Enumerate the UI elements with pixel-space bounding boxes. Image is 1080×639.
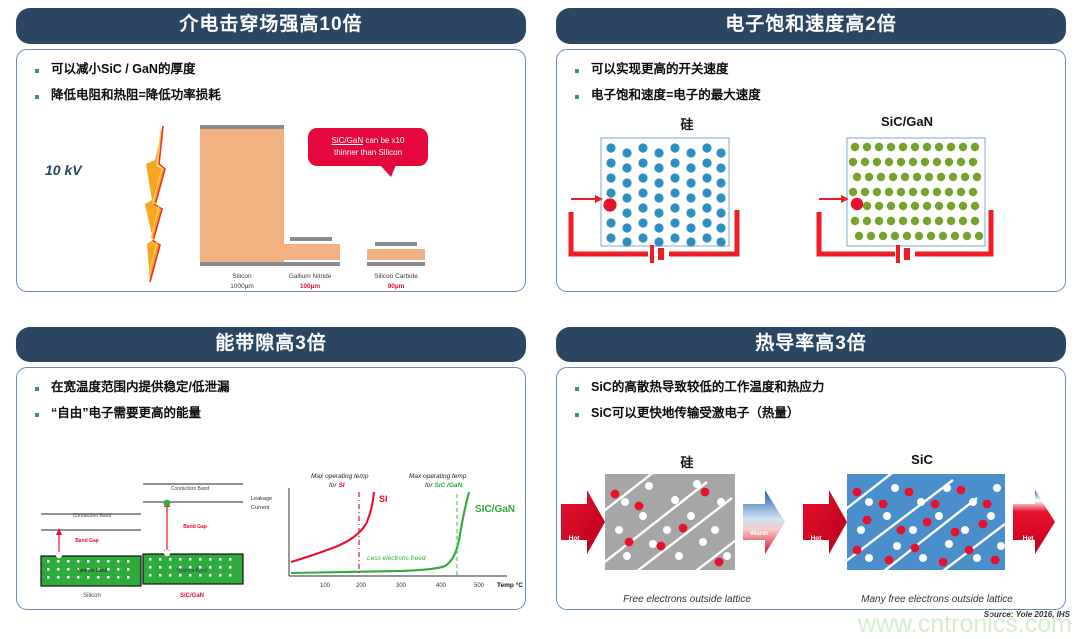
thermal-label-silicon: 硅 [577,452,797,471]
quadrant-thermal-conductivity: 热导率高3倍 SiC的高散热导致较低的工作温度和热应力 SiC可以更快地传输受激… [540,319,1080,638]
svg-text:Less electrons freed: Less electrons freed [367,555,426,562]
thermal-caption-sic: Many free electrons outside lattice [807,594,1066,605]
bullet-text: 降低电阻和热阻=降低功率损耗 [51,88,221,103]
electron-velocity-figure: 硅 SiC/GaN [557,114,1065,289]
bar-label-silicon-carbide: Silicon Carbide 90µm [346,272,446,292]
svg-text:Temp °C: Temp °C [497,581,523,589]
site-watermark: www.cntronics.com [858,610,1072,639]
svg-text:300: 300 [396,583,407,589]
bar-bottom-metal [282,262,340,266]
bullet-square-icon [575,413,579,417]
bullet-item: 可以实现更高的开关速度 [571,62,1055,77]
bullet-text: “自由”电子需要更高的能量 [51,406,201,421]
thermal-conductivity-figure: 硅 SiC [557,452,1065,602]
thermal-label-sic: SiC [807,452,1037,467]
bar-material [200,129,284,262]
slide-grid: 介电击穿场强高10倍 可以减小SiC / GaN的厚度 降低电阻和热阻=降低功率… [0,0,1080,637]
quadrant-panel-band-gap: 在宽温度范围内提供稳定/低泄漏 “自由”电子需要更高的能量 [16,367,526,610]
quadrant-electron-saturation-velocity: 电子饱和速度高2倍 可以实现更高的开关速度 电子饱和速度=电子的最大速度 硅 S… [540,0,1080,319]
voltage-label: 10 kV [45,162,82,178]
svg-text:SI: SI [379,494,388,504]
hot-arrow-label-out-sic: Hot [1016,535,1040,542]
bullet-item: 在宽温度范围内提供稳定/低泄漏 [31,380,515,395]
bullet-list: 可以实现更高的开关速度 电子饱和速度=电子的最大速度 [571,62,1055,103]
bar-material [367,249,425,260]
svg-text:200: 200 [356,583,367,589]
bar-bottom-metal [200,262,284,266]
quadrant-panel-thermal-conductivity: SiC的高散热导致较低的工作温度和热应力 SiC可以更快地传输受激电子（热量） … [556,367,1066,610]
band-material-sicgan: SiC/GaN [147,593,237,599]
leakage-current-chart: 100200300400500 Temp °C Leakage Current … [249,470,526,608]
hot-arrow-label-in-silicon: Hot [561,535,587,542]
leakage-chart-svg: 100200300400500 Temp °C Leakage Current … [249,470,526,608]
quadrant-breakdown-field: 介电击穿场强高10倍 可以减小SiC / GaN的厚度 降低电阻和热阻=降低功率… [0,0,540,319]
svg-text:Max operating temp: Max operating temp [409,473,467,480]
quadrant-title-electron-saturation-velocity: 电子饱和速度高2倍 [556,8,1066,44]
bullet-square-icon [35,387,39,391]
svg-text:500: 500 [474,583,485,589]
bullet-item: SiC的高散热导致较低的工作温度和热应力 [571,380,1055,395]
bar-top-metal [375,242,417,246]
lattice-label-silicon: 硅 [587,114,787,133]
bar-name: Gallium Nitride [289,273,332,280]
electron-dot [851,198,863,210]
hot-arrow-in-sic [803,490,847,554]
quadrant-title-band-gap: 能带隙高3倍 [16,327,526,363]
bar-thickness: 1000µm [230,283,254,290]
svg-text:100: 100 [320,583,331,589]
callout-line1-rest: can be x10 [363,136,404,145]
callout-line2: thinner than Silicon [334,148,402,157]
quadrant-title-thermal-conductivity: 热导率高3倍 [556,327,1066,363]
bullet-text: 电子饱和速度=电子的最大速度 [591,88,761,103]
lightning-bolt-icon [137,124,183,284]
bar-label-gallium-nitride: Gallium Nitride 100µm [260,272,360,292]
bar-name: Silicon [232,273,251,280]
quadrant-panel-breakdown-field: 可以减小SiC / GaN的厚度 降低电阻和热阻=降低功率损耗 10 kV [16,49,526,292]
thickness-callout: SiC/GaN can be x10 thinner than Silicon [308,128,428,166]
svg-text:Current: Current [251,505,270,511]
band-label-gap-sicgan: Band Gap [167,524,223,530]
quadrant-panel-electron-saturation-velocity: 可以实现更高的开关速度 电子饱和速度=电子的最大速度 硅 SiC/GaN [556,49,1066,292]
band-label-conduction-silicon: Conduction Band [47,513,137,519]
hot-arrow-out-sic [1013,490,1055,554]
band-label-gap-silicon: Band Gap [59,538,115,544]
bar-name: Silicon Carbide [374,273,418,280]
band-label-valence-sicgan: Valence Band [147,568,237,574]
series-si-curve [291,492,374,562]
bullet-item: 降低电阻和热阻=降低功率损耗 [31,88,515,103]
svg-text:SIC/GaN: SIC/GaN [475,504,515,515]
bar-gallium-nitride [282,237,340,266]
bullet-text: 可以减小SiC / GaN的厚度 [51,62,195,77]
bullet-square-icon [35,413,39,417]
bullet-item: “自由”电子需要更高的能量 [31,406,515,421]
bullet-text: 可以实现更高的开关速度 [591,62,729,77]
quadrant-band-gap: 能带隙高3倍 在宽温度范围内提供稳定/低泄漏 “自由”电子需要更高的能量 [0,319,540,638]
callout-underlined-term: SiC/GaN [332,136,364,145]
bullet-square-icon [575,387,579,391]
bullet-text: 在宽温度范围内提供稳定/低泄漏 [51,380,229,395]
bar-thickness: 90µm [388,283,405,290]
band-label-valence-silicon: Valence Band [47,568,137,574]
bullet-square-icon [575,95,579,99]
bullet-list: 可以减小SiC / GaN的厚度 降低电阻和热阻=降低功率损耗 [31,62,515,103]
band-gap-figure: Conduction Band Band Gap Valence Band Si… [17,478,525,608]
bar-silicon-carbide [367,242,425,266]
bullet-text: SiC可以更快地传输受激电子（热量） [591,406,799,421]
bar-bottom-metal [367,262,425,266]
svg-text:for SI: for SI [329,482,345,489]
svg-text:for SiC /GaN: for SiC /GaN [425,482,463,489]
bullet-item: 电子饱和速度=电子的最大速度 [571,88,1055,103]
warm-arrow-label-out-silicon: Warm [749,530,769,537]
bullet-item: 可以减小SiC / GaN的厚度 [31,62,515,77]
band-label-conduction-sicgan: Conduction Band [145,486,235,492]
band-material-silicon: Silicon [47,593,137,599]
bar-top-metal [290,237,332,241]
bullet-square-icon [35,95,39,99]
bullet-square-icon [35,69,39,73]
bullet-text: SiC的高散热导致较低的工作温度和热应力 [591,380,824,395]
lattice-label-sicgan: SiC/GaN [807,114,1007,129]
electron-lattice-circuits [557,134,1066,292]
hot-arrow-label-in-sic: Hot [803,535,829,542]
svg-text:Leakage: Leakage [251,496,272,502]
svg-text:400: 400 [436,583,447,589]
electron-dot [603,198,616,211]
bullet-list: SiC的高散热导致较低的工作温度和热应力 SiC可以更快地传输受激电子（热量） [571,380,1055,421]
bar-silicon [200,125,284,266]
thermal-caption-silicon: Free electrons outside lattice [577,594,797,605]
quadrant-title-breakdown-field: 介电击穿场强高10倍 [16,8,526,44]
svg-text:Max operating temp: Max operating temp [311,473,369,480]
bullet-list: 在宽温度范围内提供稳定/低泄漏 “自由”电子需要更高的能量 [31,380,515,421]
bar-material [282,244,340,260]
bullet-square-icon [575,69,579,73]
hot-arrow-in-silicon [561,490,605,554]
thermal-lattice-svg [557,472,1066,594]
bar-thickness: 100µm [300,283,320,290]
warm-arrow-out-silicon [743,490,785,554]
thickness-comparison-figure: 10 kV Silicon 1000µm [17,122,525,290]
bullet-item: SiC可以更快地传输受激电子（热量） [571,406,1055,421]
